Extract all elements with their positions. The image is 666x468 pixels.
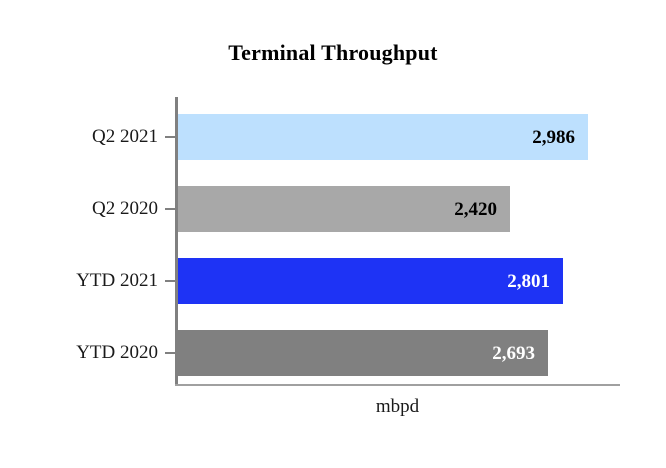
- category-label: YTD 2020: [0, 330, 158, 376]
- bar[interactable]: 2,801: [178, 258, 563, 304]
- y-axis-tick: [165, 136, 176, 138]
- category-label: Q2 2020: [0, 186, 158, 232]
- x-axis-line: [175, 384, 620, 386]
- chart-container: Terminal Throughput Q2 20212,986Q2 20202…: [0, 0, 666, 468]
- bar[interactable]: 2,986: [178, 114, 588, 160]
- y-axis-tick: [165, 280, 176, 282]
- bar[interactable]: 2,693: [178, 330, 548, 376]
- bar-row: YTD 20202,693: [0, 330, 666, 376]
- bar-value-label: 2,693: [492, 344, 548, 363]
- bar[interactable]: 2,420: [178, 186, 510, 232]
- x-axis-title: mbpd: [175, 396, 620, 418]
- bar-row: Q2 20202,420: [0, 186, 666, 232]
- category-label: YTD 2021: [0, 258, 158, 304]
- category-label: Q2 2021: [0, 114, 158, 160]
- bar-value-label: 2,801: [507, 272, 563, 291]
- y-axis-tick: [165, 352, 176, 354]
- bar-row: YTD 20212,801: [0, 258, 666, 304]
- bar-row: Q2 20212,986: [0, 114, 666, 160]
- bar-value-label: 2,986: [532, 128, 588, 147]
- bar-value-label: 2,420: [454, 200, 510, 219]
- y-axis-tick: [165, 208, 176, 210]
